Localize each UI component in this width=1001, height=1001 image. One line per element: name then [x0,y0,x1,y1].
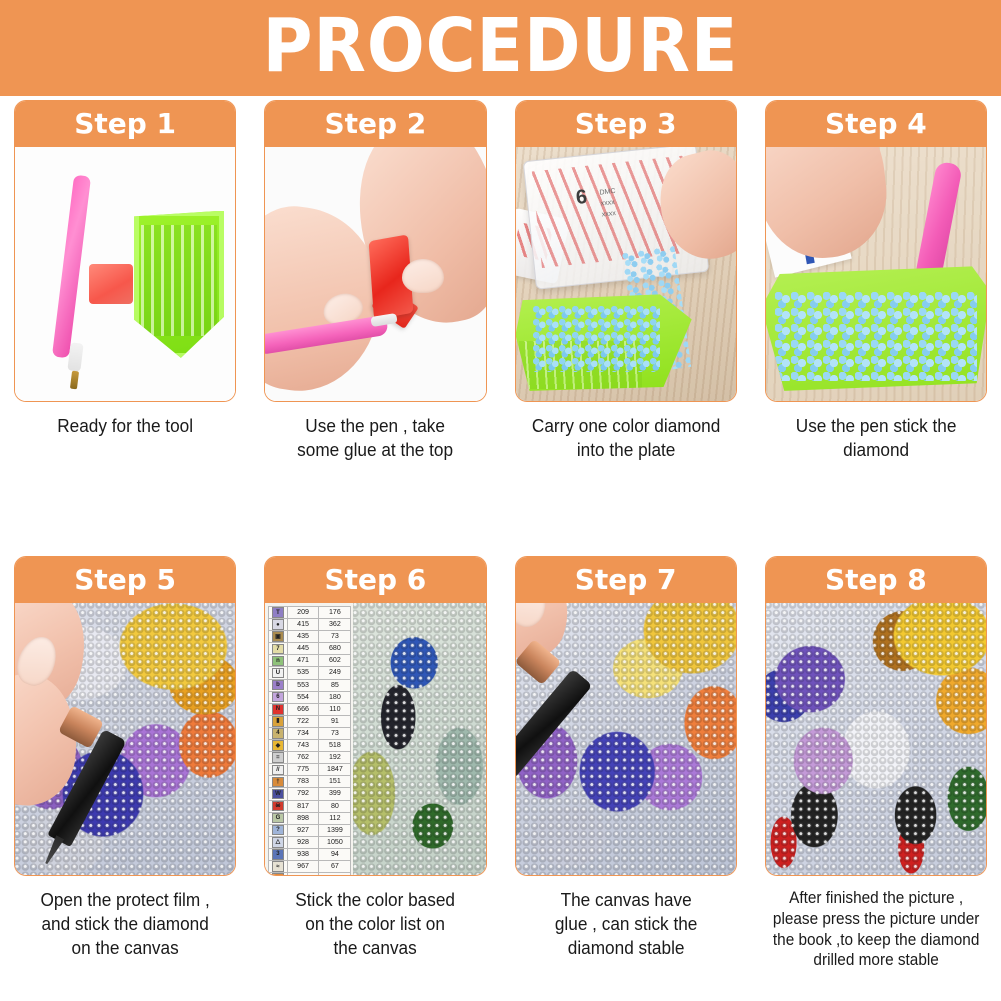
color-swatch: ◆ [272,740,284,751]
color-list-chart: T209176●415362▣435737445680n471602U53524… [265,603,353,875]
color-swatch-cell: b [269,679,287,691]
fingernail-icon [402,259,444,293]
color-swatch: ? [272,825,284,836]
step-card-3: Step 3 6 DMCxxxxxxxx [515,100,737,402]
color-list-row: 393894 [269,848,351,860]
color-swatch: W [272,789,284,800]
color-swatch: 4 [272,728,284,739]
color-list-row: T209176 [269,607,351,619]
step-caption-3: Carry one color diamond into the plate [522,414,729,462]
color-count-cell: 94 [319,848,351,860]
color-swatch-cell: W [269,788,287,800]
color-code-table: T209176●415362▣435737445680n471602U53524… [268,606,351,875]
blue-beads-icon [775,292,977,381]
color-count-cell: 192 [319,752,351,764]
color-list-row: ≈96767 [269,860,351,872]
diamond-canvas-icon [353,603,485,875]
color-swatch-cell: N [269,703,287,715]
step-card-5: Step 5 [14,556,236,876]
blue-beads-icon [533,306,660,372]
color-list-row: G898112 [269,812,351,824]
page-title: PROCEDURE [263,9,739,83]
color-swatch: b [272,680,284,691]
color-code-cell: 783 [287,776,319,788]
color-swatch-cell: ☠ [269,800,287,812]
step-card-header-4: Step 4 [766,101,986,147]
color-swatch-cell: = [269,752,287,764]
color-code-cell: 928 [287,836,319,848]
step-caption-6: Stick the color based on the color list … [272,888,479,960]
color-count-cell: 110 [319,703,351,715]
step-card-6: Step 6 T209176●415362▣435737445680n47160… [264,556,486,876]
color-swatch: △ [272,837,284,848]
color-list-row: 7445680 [269,643,351,655]
color-count-cell: 80 [319,800,351,812]
step-caption-2: Use the pen , take some glue at the top [272,414,479,462]
step-cell-1: Step 1 Ready for the tool [0,100,250,462]
color-swatch-cell: ≈ [269,860,287,872]
color-code-cell: 792 [287,788,319,800]
step-cell-6: Step 6 T209176●415362▣435737445680n47160… [250,540,500,971]
color-code-cell: 734 [287,727,319,739]
color-swatch: ☠ [272,801,284,812]
color-swatch: T [272,607,284,618]
step-image-2 [265,147,485,401]
color-count-cell: 249 [319,667,351,679]
color-swatch: † [272,777,284,788]
step-caption-8: After finished the picture , please pres… [773,888,980,971]
step-cell-4: Step 4 Use the pen [751,100,1001,462]
color-swatch-cell: n [269,655,287,667]
color-list-row: W792399 [269,788,351,800]
color-swatch: ≈ [272,861,284,872]
color-code-cell: 975 [287,873,319,875]
step-caption-7: The canvas have glue , can stick the dia… [522,888,729,960]
pen-tip-icon [70,370,79,389]
color-count-cell: 151 [319,776,351,788]
color-swatch-cell: ● [269,619,287,631]
canvas-preview [353,603,485,875]
color-swatch-cell: 6 [269,691,287,703]
step-label-3: Step 3 [575,110,677,138]
color-count-cell: 91 [319,715,351,727]
color-list-row: ●415362 [269,619,351,631]
color-code-cell: 471 [287,655,319,667]
step-cell-2: Step 2 Use the pen , take some glu [250,100,500,462]
color-code-cell: 445 [287,643,319,655]
color-code-cell: 817 [287,800,319,812]
color-list-row: △9281050 [269,836,351,848]
color-count-cell: 67 [319,860,351,872]
color-code-cell: 554 [287,691,319,703]
color-swatch: 7 [272,644,284,655]
color-code-cell: 898 [287,812,319,824]
color-list-row: ☠81780 [269,800,351,812]
steps-grid-row-1: Step 1 Ready for the tool [0,100,1001,462]
step-card-2: Step 2 [264,100,486,402]
color-swatch-cell: ▣ [269,631,287,643]
color-list-row: ▮72291 [269,715,351,727]
step-cell-8: Step 8 After finished the picture , plea… [751,540,1001,971]
step-card-8: Step 8 [765,556,987,876]
glue-square-icon [89,264,133,304]
step-label-4: Step 4 [825,110,927,138]
step-card-header-6: Step 6 [265,557,485,603]
color-swatch-cell: // [269,764,287,776]
step-image-3: 6 DMCxxxxxxxx [516,147,736,401]
color-count-cell: 362 [319,619,351,631]
step-card-header-5: Step 5 [15,557,235,603]
color-swatch: ▣ [272,631,284,642]
step-cell-5: Step 5 Open the protect film , and stick… [0,540,250,971]
color-count-cell: 112 [319,812,351,824]
step-label-7: Step 7 [575,566,677,594]
page-banner: PROCEDURE [0,0,1001,96]
step-label-2: Step 2 [324,110,426,138]
green-tray-icon [766,264,986,391]
color-code-cell: 209 [287,607,319,619]
color-list-row: ?9271399 [269,824,351,836]
color-swatch-cell: △ [269,836,287,848]
color-swatch-cell: C [269,873,287,875]
step-card-4: Step 4 [765,100,987,402]
color-code-cell: 743 [287,740,319,752]
color-swatch-cell: ▮ [269,715,287,727]
color-list-row: 473473 [269,727,351,739]
step-image-4 [766,147,986,401]
color-count-cell: 176 [319,607,351,619]
finished-diamond-picture-icon [766,603,986,875]
color-swatch-cell: 7 [269,643,287,655]
steps-grid-row-2: Step 5 Open the protect film , and stick… [0,540,1001,971]
color-code-cell: 967 [287,860,319,872]
color-swatch: 6 [272,692,284,703]
step-label-6: Step 6 [324,566,426,594]
color-swatch: n [272,656,284,667]
color-code-cell: 762 [287,752,319,764]
procedure-infographic: PROCEDURE Step 1 [0,0,1001,1001]
color-code-cell: 666 [287,703,319,715]
step-caption-4: Use the pen stick the diamond [773,414,980,462]
color-code-cell: 535 [287,667,319,679]
color-list-row: ▣43573 [269,631,351,643]
color-count-cell: 399 [319,788,351,800]
color-list-row: =762192 [269,752,351,764]
color-count-cell: 518 [319,740,351,752]
step-card-1: Step 1 [14,100,236,402]
color-swatch-cell: † [269,776,287,788]
color-list-row: N666110 [269,703,351,715]
color-list-row: ◆743518 [269,740,351,752]
color-list-row: n471602 [269,655,351,667]
color-swatch-cell: 4 [269,727,287,739]
step-card-header-1: Step 1 [15,101,235,147]
step-card-header-8: Step 8 [766,557,986,603]
color-swatch: ● [272,619,284,630]
color-swatch: ▮ [272,716,284,727]
color-list-row: 6554180 [269,691,351,703]
color-list-row: b55385 [269,679,351,691]
step-card-header-7: Step 7 [516,557,736,603]
color-count-cell: 73 [319,631,351,643]
color-list-row: //7751847 [269,764,351,776]
color-code-cell: 938 [287,848,319,860]
color-code-cell: 927 [287,824,319,836]
step-card-header-2: Step 2 [265,101,485,147]
color-swatch: C [272,873,284,875]
color-code-cell: 775 [287,764,319,776]
color-count-cell: 602 [319,655,351,667]
color-swatch: = [272,752,284,763]
step-caption-1: Ready for the tool [22,414,229,438]
color-swatch: // [272,765,284,776]
color-count-cell: 1399 [319,824,351,836]
color-swatch-cell: U [269,667,287,679]
color-count-cell: 73 [319,727,351,739]
color-swatch-cell: ? [269,824,287,836]
step-cell-3: Step 3 6 DMCxxxxxxxx [501,100,751,462]
color-count-cell: 680 [319,643,351,655]
color-swatch-cell: T [269,607,287,619]
pen-collar-icon [67,342,83,371]
color-swatch: G [272,813,284,824]
step-image-8 [766,603,986,875]
color-count-cell: 1847 [319,764,351,776]
color-count-cell: 180 [319,691,351,703]
color-code-cell: 415 [287,619,319,631]
step-image-6: T209176●415362▣435737445680n471602U53524… [265,603,485,875]
color-list-row: U535249 [269,667,351,679]
color-list-row: C975109 [269,873,351,875]
color-count-cell: 109 [319,873,351,875]
color-code-cell: 722 [287,715,319,727]
color-list-row: †783151 [269,776,351,788]
step-card-header-3: Step 3 [516,101,736,147]
color-swatch: 3 [272,849,284,860]
green-tray-icon [134,211,224,358]
color-code-cell: 435 [287,631,319,643]
color-count-cell: 85 [319,679,351,691]
step-label-1: Step 1 [74,110,176,138]
step-label-8: Step 8 [825,566,927,594]
step-image-5 [15,603,235,875]
color-code-cell: 553 [287,679,319,691]
color-count-cell: 1050 [319,836,351,848]
color-swatch: U [272,668,284,679]
pink-pen-icon [52,175,91,359]
step-label-5: Step 5 [74,566,176,594]
step-image-7 [516,603,736,875]
color-swatch-cell: G [269,812,287,824]
step-cell-7: Step 7 The canvas have glue , can stick … [501,540,751,971]
color-swatch-cell: ◆ [269,740,287,752]
green-tray-icon [516,294,692,391]
color-swatch-cell: 3 [269,848,287,860]
step-image-1 [15,147,235,401]
step-caption-5: Open the protect film , and stick the di… [22,888,229,960]
color-swatch: N [272,704,284,715]
step-card-7: Step 7 [515,556,737,876]
